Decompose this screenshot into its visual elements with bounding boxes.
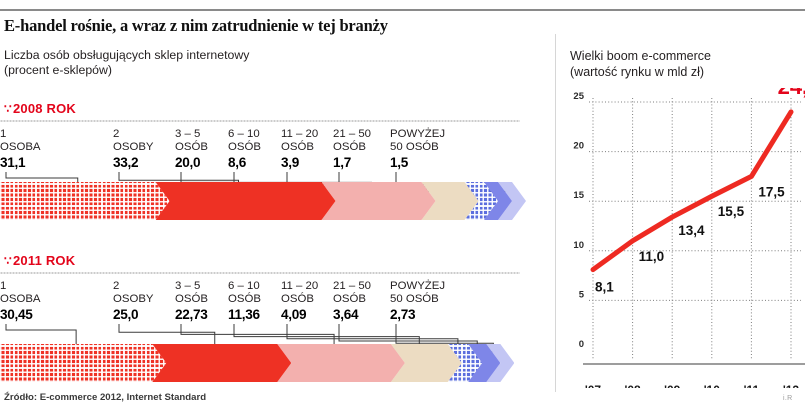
- left-panel-subtitle-line2: (procent e-sklepów): [4, 63, 504, 78]
- chevron-segment-2008-3: [322, 182, 436, 220]
- column-2011-2: 2OSOBY25,0: [113, 280, 154, 321]
- column-range-label: 2: [113, 128, 154, 141]
- x-axis-tick-label: '10: [704, 383, 721, 388]
- column-2008-2: 2OSOBY33,2: [113, 128, 154, 169]
- y-axis-tick-label: 0: [579, 339, 584, 350]
- column-value: 4,09: [281, 308, 318, 321]
- chevron-segment-fill: [152, 344, 291, 382]
- column-range-label: 2: [113, 280, 154, 293]
- chevron-segment-2008-2: [156, 182, 336, 220]
- y-axis-tick-label: 5: [579, 289, 585, 300]
- column-value: 25,0: [113, 308, 154, 321]
- left-panel-subtitle: Liczba osób obsługujących sklep internet…: [4, 48, 504, 78]
- column-value: 11,36: [228, 308, 261, 321]
- column-2008-4: 6 – 10OSÓB8,6: [228, 128, 261, 169]
- column-2008-6: 21 – 50OSÓB1,7: [333, 128, 371, 169]
- chevron-segment-2011-1: [0, 344, 166, 382]
- column-unit-label: OSOBA: [0, 141, 41, 154]
- column-range-label: 11 – 20: [281, 280, 318, 293]
- column-unit-label: OSÓB: [281, 141, 318, 154]
- chevron-segment-fill: [156, 182, 336, 220]
- left-panel-subtitle-line1: Liczba osób obsługujących sklep internet…: [4, 48, 504, 63]
- column-range-label: 3 – 5: [175, 280, 208, 293]
- data-point-label: 17,5: [758, 184, 785, 199]
- chevron-segment-fill: [277, 344, 405, 382]
- chevron-segment-2008-1: [0, 182, 170, 220]
- source-note: Źródło: E-commerce 2012, Internet Standa…: [4, 392, 206, 403]
- band-rule-2008: [0, 120, 520, 122]
- column-value: 33,2: [113, 156, 154, 169]
- column-unit-label: OSÓB: [228, 293, 261, 306]
- band-title-2011-label: 2011 ROK: [13, 253, 75, 268]
- column-unit-label: OSOBY: [113, 293, 154, 306]
- column-value: 3,9: [281, 156, 318, 169]
- column-range-label: POWYŻEJ: [390, 280, 445, 293]
- column-unit-label: OSÓB: [175, 293, 208, 306]
- column-value: 22,73: [175, 308, 208, 321]
- column-unit-label: OSOBY: [113, 141, 154, 154]
- chevron-bar-2008: [0, 182, 530, 220]
- data-point-label: 8,1: [595, 280, 614, 295]
- column-2011-3: 3 – 5OSÓB22,73: [175, 280, 208, 321]
- data-point-label: 13,4: [678, 223, 705, 238]
- data-point-label: 11,0: [639, 249, 665, 264]
- column-2008-1: 1OSOBA31,1: [0, 128, 41, 169]
- column-2011-6: 21 – 50OSÓB3,64: [333, 280, 371, 321]
- column-unit-label: 50 OSÓB: [390, 293, 445, 306]
- y-axis-tick-label: 20: [573, 141, 584, 152]
- column-2011-4: 6 – 10OSÓB11,36: [228, 280, 261, 321]
- page-title: E-handel rośnie, a wraz z nim zatrudnien…: [4, 16, 564, 36]
- column-unit-label: OSOBA: [0, 293, 41, 306]
- x-axis-tick-label: '09: [664, 383, 681, 388]
- x-axis-tick-label: '12: [783, 383, 800, 388]
- column-range-label: 1: [0, 280, 41, 293]
- column-2008-5: 11 – 20OSÓB3,9: [281, 128, 318, 169]
- x-axis-tick-label: '08: [624, 383, 641, 388]
- column-2011-1: 1OSOBA30,45: [0, 280, 41, 321]
- column-range-label: 3 – 5: [175, 128, 208, 141]
- bullet-icon: ∵: [4, 254, 13, 268]
- band-title-2008-label: 2008 ROK: [13, 101, 76, 116]
- column-2008-3: 3 – 5OSÓB20,0: [175, 128, 208, 169]
- chevron-segment-fill: [322, 182, 436, 220]
- column-range-label: 21 – 50: [333, 280, 371, 293]
- chevron-bar-2011: [0, 344, 530, 382]
- column-2011-5: 11 – 20OSÓB4,09: [281, 280, 318, 321]
- column-value: 8,6: [228, 156, 261, 169]
- column-range-label: POWYŻEJ: [390, 128, 445, 141]
- y-axis-tick-label: 25: [573, 91, 584, 102]
- credit-mark: i.R: [783, 395, 792, 402]
- chevron-segment-2011-2: [152, 344, 291, 382]
- data-point-label: 24,0: [778, 88, 805, 99]
- y-axis-tick-label: 15: [573, 190, 584, 201]
- column-value: 1,5: [390, 156, 445, 169]
- x-axis-tick-label: '11: [744, 383, 760, 388]
- chevron-segment-fill: [0, 182, 170, 220]
- top-rule: [0, 9, 805, 11]
- x-axis-tick-label: '07: [585, 383, 602, 388]
- column-value: 30,45: [0, 308, 41, 321]
- band-title-2011: ∵2011 ROK: [4, 253, 75, 268]
- right-panel-title-line1: Wielki boom e-commerce: [570, 49, 711, 65]
- column-value: 2,73: [390, 308, 445, 321]
- right-panel-title: Wielki boom e-commerce (wartość rynku w …: [570, 49, 711, 80]
- data-point-label: 15,5: [718, 204, 745, 219]
- line-chart: 0510152025'07'08'09'10'11'128,111,013,41…: [555, 88, 805, 388]
- column-value: 3,64: [333, 308, 371, 321]
- column-unit-label: OSÓB: [333, 293, 371, 306]
- column-range-label: 11 – 20: [281, 128, 318, 141]
- column-2008-7: POWYŻEJ50 OSÓB1,5: [390, 128, 445, 169]
- column-range-label: 6 – 10: [228, 128, 261, 141]
- column-unit-label: OSÓB: [175, 141, 208, 154]
- column-unit-label: OSÓB: [281, 293, 318, 306]
- band-title-2008: ∵2008 ROK: [4, 101, 76, 116]
- column-2011-7: POWYŻEJ50 OSÓB2,73: [390, 280, 445, 321]
- column-value: 1,7: [333, 156, 371, 169]
- chevron-segment-2011-3: [277, 344, 405, 382]
- column-range-label: 1: [0, 128, 41, 141]
- column-range-label: 21 – 50: [333, 128, 371, 141]
- column-range-label: 6 – 10: [228, 280, 261, 293]
- column-unit-label: OSÓB: [333, 141, 371, 154]
- infographic-page: E-handel rośnie, a wraz z nim zatrudnien…: [0, 0, 805, 411]
- bullet-icon: ∵: [4, 102, 13, 116]
- column-unit-label: OSÓB: [228, 141, 261, 154]
- band-rule-2011: [0, 272, 520, 274]
- column-unit-label: 50 OSÓB: [390, 141, 445, 154]
- column-value: 20,0: [175, 156, 208, 169]
- chevron-segment-fill: [0, 344, 166, 382]
- y-axis-tick-label: 10: [573, 240, 584, 251]
- column-value: 31,1: [0, 156, 41, 169]
- right-panel-title-line2: (wartość rynku w mld zł): [570, 65, 711, 81]
